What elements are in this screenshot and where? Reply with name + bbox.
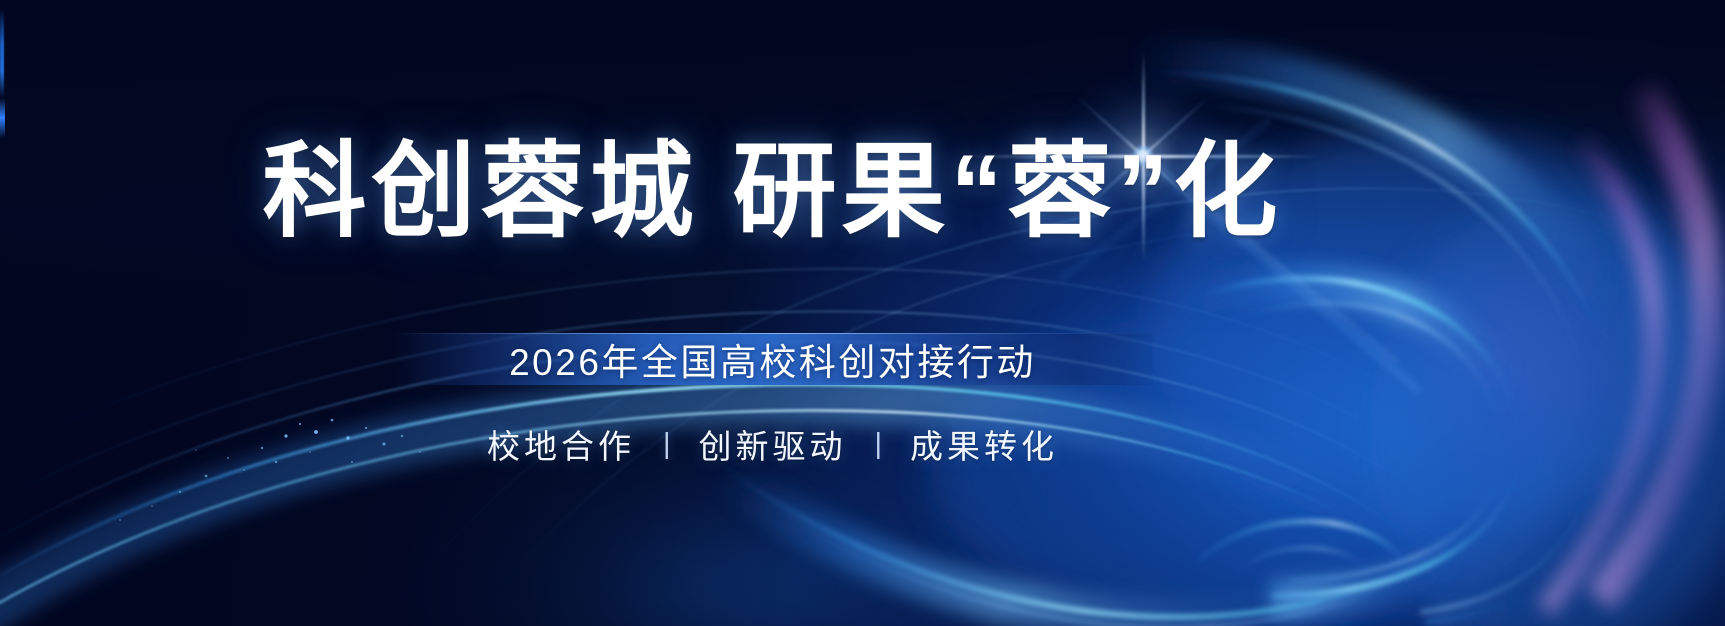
banner-content: 科创蓉城 研果“蓉”化 2026年全国高校科创对接行动 校地合作 | 创新驱动 … (0, 0, 1725, 626)
tagline-separator-2: | (873, 428, 885, 461)
banner-title: 科创蓉城 研果“蓉”化 (0, 136, 1725, 248)
tagline-item-3: 成果转化 (910, 420, 1058, 468)
tagline-item-2: 创新驱动 (699, 420, 847, 468)
event-banner: 科创蓉城 研果“蓉”化 2026年全国高校科创对接行动 校地合作 | 创新驱动 … (0, 0, 1725, 626)
subtitle-bar-wrap: 2026年全国高校科创对接行动 (0, 333, 1725, 385)
banner-subtitle: 2026年全国高校科创对接行动 (509, 332, 1036, 386)
banner-tagline: 校地合作 | 创新驱动 | 成果转化 (0, 420, 1725, 468)
subtitle-bar: 2026年全国高校科创对接行动 (393, 333, 1153, 385)
tagline-item-1: 校地合作 (487, 420, 635, 468)
tagline-separator-1: | (661, 428, 673, 461)
